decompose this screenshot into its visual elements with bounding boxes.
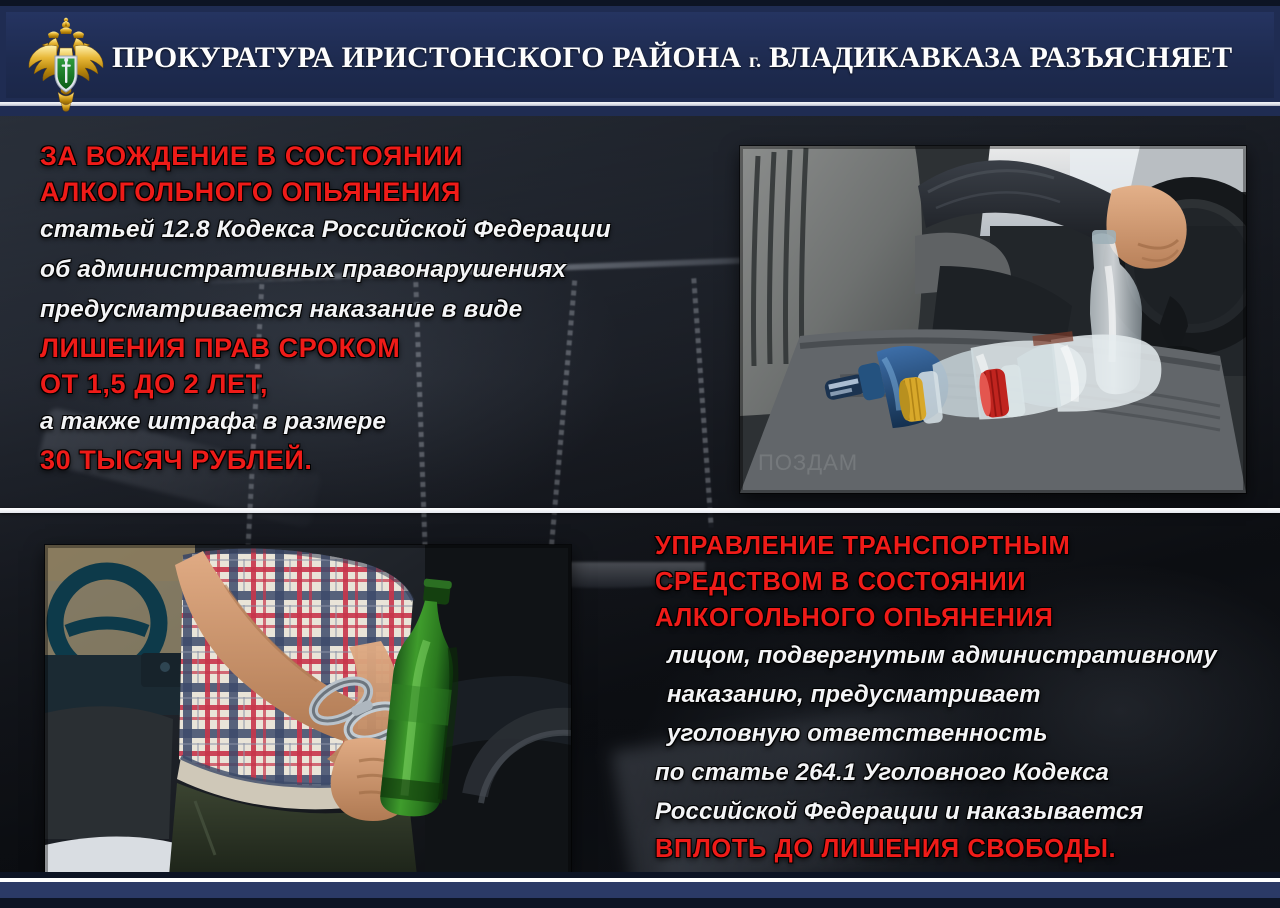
text-line: лицом, подвергнутым административному — [655, 636, 1270, 675]
text-line: АЛКОГОЛЬНОГО ОПЬЯНЕНИЯ — [40, 174, 740, 210]
bottom-section-text-block: УПРАВЛЕНИЕ ТРАНСПОРТНЫМ СРЕДСТВОМ В СОСТ… — [655, 528, 1270, 867]
text-line: наказанию, предусматривает — [655, 675, 1270, 714]
text-line: СРЕДСТВОМ В СОСТОЯНИИ — [655, 564, 1270, 600]
photo-handcuffed-man-holding-beer-bottle — [45, 545, 571, 876]
text-line: УПРАВЛЕНИЕ ТРАНСПОРТНЫМ — [655, 528, 1270, 564]
text-line: уголовную ответственность — [655, 714, 1270, 753]
svg-text:ПОЗДАМ: ПОЗДАМ — [758, 450, 858, 475]
section-divider-rule — [0, 508, 1280, 513]
header-lower-band — [0, 106, 1280, 116]
russian-prosecutor-eagle-emblem — [24, 16, 108, 112]
text-line: ВПЛОТЬ ДО ЛИШЕНИЯ СВОБОДЫ. — [655, 831, 1270, 867]
footer-navy-bar — [0, 882, 1280, 898]
text-line: по статье 264.1 Уголовного Кодекса — [655, 753, 1270, 792]
header-banner: ПРОКУРАТУРА ИРИСТОНСКОГО РАЙОНА г. ВЛАДИ… — [0, 0, 1280, 110]
footer-band — [0, 872, 1280, 908]
top-section-text-block: ЗА ВОЖДЕНИЕ В СОСТОЯНИИ АЛКОГОЛЬНОГО ОПЬ… — [40, 138, 740, 478]
poster-root: ПРОКУРАТУРА ИРИСТОНСКОГО РАЙОНА г. ВЛАДИ… — [0, 0, 1280, 908]
text-line: Российской Федерации и наказывается — [655, 792, 1270, 831]
text-line: ЗА ВОЖДЕНИЕ В СОСТОЯНИИ — [40, 138, 740, 174]
text-line: об административных правонарушениях — [40, 250, 740, 290]
header-title-end: ВЛАДИКАВКАЗА РАЗЪЯСНЯЕТ — [769, 41, 1232, 74]
page-title: ПРОКУРАТУРА ИРИСТОНСКОГО РАЙОНА г. ВЛАДИ… — [112, 41, 1232, 75]
text-line: АЛКОГОЛЬНОГО ОПЬЯНЕНИЯ — [655, 600, 1270, 636]
text-line: предусматривается наказание в виде — [40, 290, 740, 330]
header-title-main: ПРОКУРАТУРА ИРИСТОНСКОГО РАЙОНА — [112, 41, 741, 74]
text-line: 30 ТЫСЯЧ РУБЛЕЙ. — [40, 442, 740, 478]
text-line: ЛИШЕНИЯ ПРАВ СРОКОМ — [40, 330, 740, 366]
text-line: ОТ 1,5 ДО 2 ЛЕТ, — [40, 366, 740, 402]
header-title-small: г. — [749, 50, 761, 72]
text-line: статьей 12.8 Кодекса Российской Федераци… — [40, 210, 740, 250]
text-line: а также штрафа в размере — [40, 402, 740, 442]
photo-drunk-driver-with-bottles-in-car: ПОЗДАМ — [740, 146, 1246, 493]
